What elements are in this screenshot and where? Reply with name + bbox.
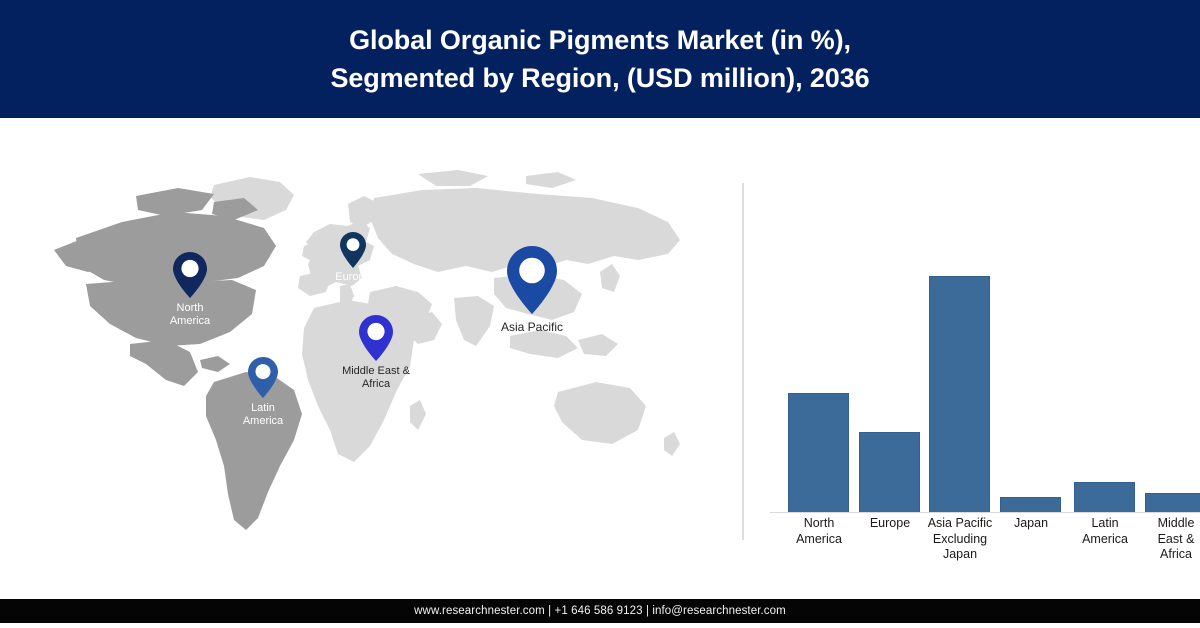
chart-label-japan: Japan — [1014, 516, 1048, 532]
bar-japan[interactable] — [1000, 497, 1061, 513]
footer-bottom-padding — [0, 623, 1200, 628]
bar-north-america[interactable] — [788, 393, 849, 513]
location-pin-icon — [507, 246, 557, 314]
bar-asia-pacific-ex-japan[interactable] — [929, 276, 990, 513]
footer-contact-text: www.researchnester.com | +1 646 586 9123… — [414, 605, 786, 617]
region-bar-chart: North America Europe Asia Pacific Exclud… — [742, 168, 1200, 588]
content-area: North America Europe Asia Pacific — [0, 118, 1200, 599]
world-map-panel: North America Europe Asia Pacific — [18, 168, 730, 548]
location-pin-icon — [340, 232, 366, 268]
map-pin-label-europe: Europe — [335, 271, 370, 284]
infographic-page: Global Organic Pigments Market (in %), S… — [0, 0, 1200, 628]
chart-category-labels: North America Europe Asia Pacific Exclud… — [760, 516, 1200, 586]
chart-label-asia-pacific-ex-japan: Asia Pacific Excluding Japan — [928, 516, 993, 563]
chart-label-north-america: North America — [796, 516, 842, 547]
map-pin-label-latin-america: Latin America — [243, 402, 283, 428]
map-pin-middle-east-africa[interactable] — [359, 315, 393, 361]
location-pin-icon — [359, 315, 393, 361]
map-pin-north-america[interactable] — [173, 252, 207, 298]
bar-middle-east-africa[interactable] — [1145, 493, 1200, 513]
map-pin-label-middle-east-africa: Middle East & Africa — [342, 365, 410, 391]
map-pin-label-asia-pacific: Asia Pacific — [501, 320, 563, 334]
chart-baseline-axis — [770, 512, 1200, 513]
map-pin-label-north-america: North America — [170, 302, 210, 328]
page-title: Global Organic Pigments Market (in %), S… — [290, 21, 909, 98]
chart-plot-area — [760, 168, 1200, 513]
chart-label-latin-america: Latin America — [1082, 516, 1128, 547]
location-pin-icon — [248, 357, 278, 398]
bars-container — [760, 168, 1200, 513]
footer-bar: www.researchnester.com | +1 646 586 9123… — [0, 599, 1200, 623]
map-pin-latin-america[interactable] — [248, 357, 278, 398]
chart-label-europe: Europe — [870, 516, 910, 532]
bar-latin-america[interactable] — [1074, 482, 1135, 513]
header-banner: Global Organic Pigments Market (in %), S… — [0, 0, 1200, 118]
chart-label-middle-east-africa: Middle East & Africa — [1158, 516, 1195, 563]
bar-europe[interactable] — [859, 432, 920, 513]
map-pin-asia-pacific[interactable] — [507, 246, 557, 314]
location-pin-icon — [173, 252, 207, 298]
map-pin-europe[interactable] — [340, 232, 366, 268]
